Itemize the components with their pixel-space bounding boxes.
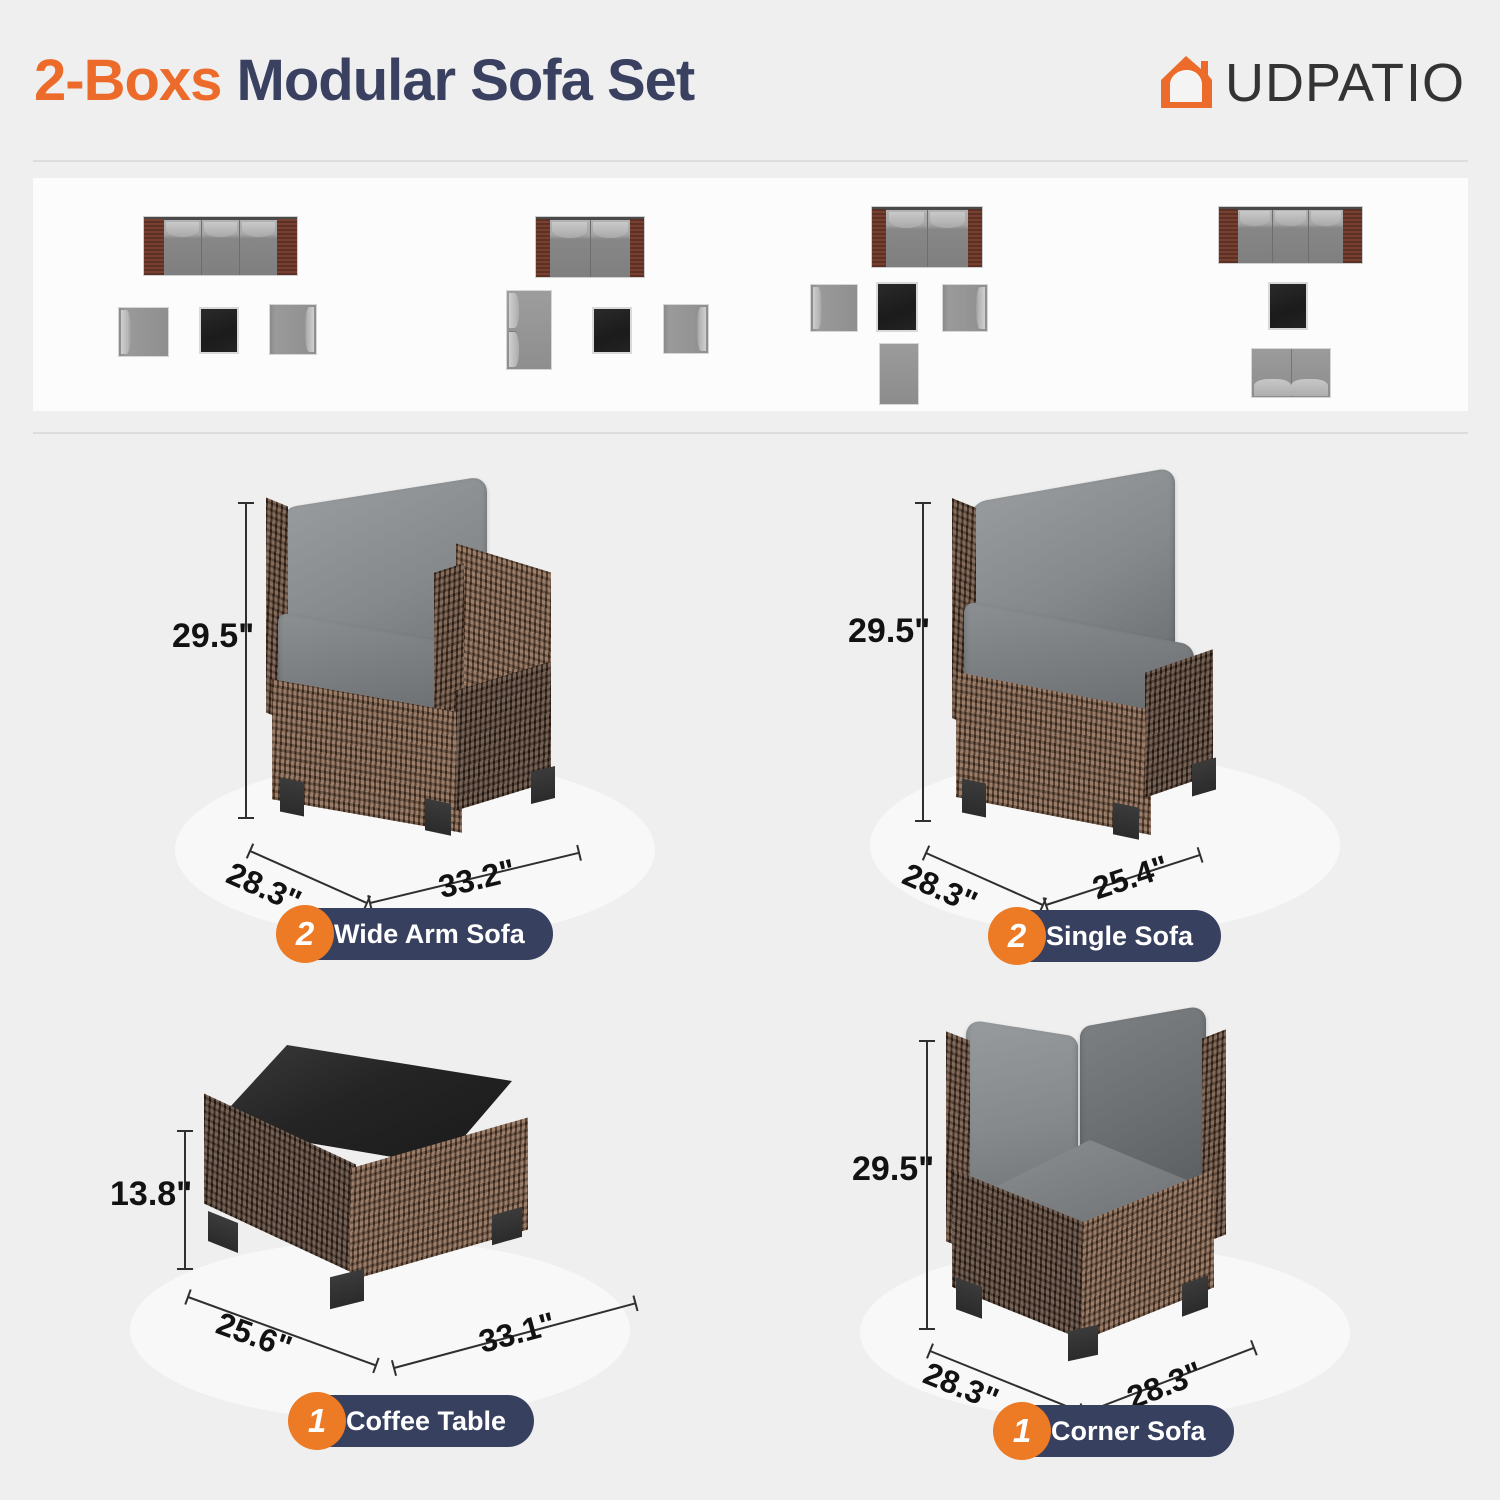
seat-piece-right [663, 304, 709, 354]
coffee-table-badge: 1 Coffee Table [290, 1395, 534, 1447]
leg-front-left [280, 777, 304, 816]
page-title: 2-Boxs Modular Sofa Set [34, 47, 694, 114]
infographic-page: 2-Boxs Modular Sofa Set UDPATIO [0, 0, 1500, 1500]
coffee-table-illustration [190, 1025, 620, 1325]
badge-quantity: 2 [276, 905, 334, 963]
badge-quantity: 1 [993, 1402, 1051, 1460]
height-dim-label: 13.8" [110, 1175, 192, 1214]
height-dim-line [245, 502, 247, 819]
leg-front [1068, 1325, 1098, 1361]
leg-front [330, 1269, 364, 1309]
product-corner-sofa: 29.5" 28.3" 28.3" 1 Corner Sofa [750, 1000, 1500, 1470]
configuration-1 [118, 178, 408, 411]
configuration-2 [473, 178, 773, 411]
wide-arm-sofa-badge: 2 Wide Arm Sofa [278, 908, 553, 960]
sofa-top-view [1218, 206, 1363, 264]
sofa-top-view [143, 216, 298, 276]
configuration-3 [813, 178, 1113, 411]
header: 2-Boxs Modular Sofa Set UDPATIO [0, 0, 1500, 150]
height-dim-label: 29.5" [848, 612, 930, 651]
single-sofa-badge: 2 Single Sofa [990, 910, 1221, 962]
panel-rule-top [33, 160, 1468, 162]
configuration-4 [1153, 178, 1453, 411]
title-rest: Modular Sofa Set [237, 48, 695, 113]
configuration-panel [33, 178, 1468, 411]
product-coffee-table: 13.8" 25.6" 33.1" 1 Coffee Table [0, 1000, 750, 1470]
corner-sofa-badge: 1 Corner Sofa [995, 1405, 1234, 1457]
leg-front-left [962, 778, 986, 817]
leg-front-right [1113, 802, 1139, 840]
product-single-sofa: 29.5" 28.3" 25.4" 2 Single Sofa [750, 460, 1500, 980]
seat-piece-right [942, 284, 988, 332]
badge-label: Wide Arm Sofa [334, 919, 525, 950]
sofa-top-view [535, 216, 645, 278]
table-piece [876, 282, 918, 332]
badge-label: Corner Sofa [1051, 1416, 1206, 1447]
wide-arm-sofa-illustration [250, 480, 630, 860]
leg-back-right [531, 766, 555, 804]
corner-sofa-illustration [930, 1010, 1330, 1350]
brand-logo: UDPATIO [1157, 52, 1464, 114]
panel-rule-bottom [33, 432, 1468, 434]
bottom-seat-piece [879, 343, 919, 405]
sofa-top-view [871, 206, 983, 268]
two-seat-bottom-piece [1251, 348, 1331, 398]
leg-back-right [1192, 758, 1216, 797]
table-piece [199, 307, 239, 354]
product-wide-arm-sofa: 29.5" 28.3" 33.2" 2 Wide Arm Sofa [0, 460, 750, 980]
badge-label: Single Sofa [1046, 921, 1193, 952]
badge-label: Coffee Table [346, 1406, 506, 1437]
height-dim-label: 29.5" [172, 617, 254, 656]
stacked-seat-piece [506, 290, 552, 370]
seat-piece [810, 284, 858, 332]
house-icon [1157, 52, 1219, 114]
table-piece [1268, 282, 1308, 330]
single-sofa-illustration [930, 485, 1310, 865]
leg-front-right [425, 798, 451, 836]
brand-name: UDPATIO [1225, 56, 1464, 110]
height-dim-line [922, 502, 924, 822]
height-dim-label: 29.5" [852, 1150, 934, 1189]
table-piece [592, 307, 632, 354]
badge-quantity: 1 [288, 1392, 346, 1450]
seat-piece [118, 307, 169, 357]
seat-piece-right [269, 304, 317, 355]
title-highlight: 2-Boxs [34, 48, 221, 113]
badge-quantity: 2 [988, 907, 1046, 965]
